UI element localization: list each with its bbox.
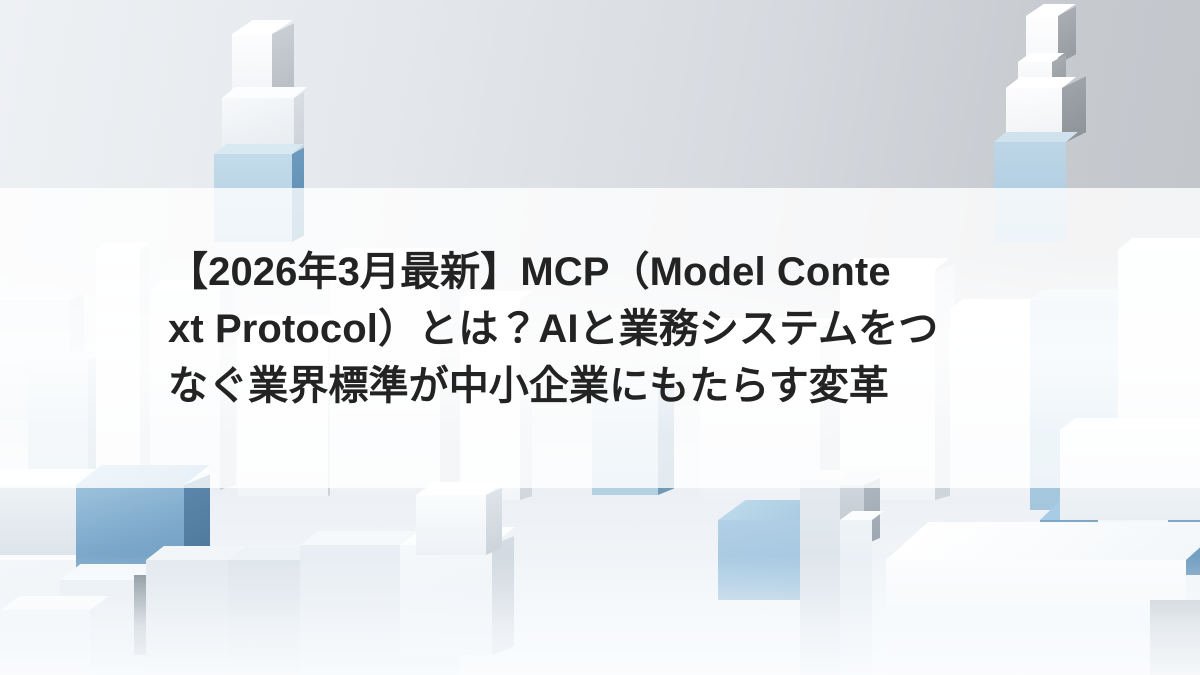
hero-banner: 【2026年3月最新】MCP（Model Conte xt Protocol）と… [0,0,1200,675]
floor-reflection [0,555,1200,675]
page-title: 【2026年3月最新】MCP（Model Conte xt Protocol）と… [168,244,1048,415]
title-line-3: なぐ業界標準が中小企業にもたらす変革 [168,358,1048,415]
fg-white-cube-mid-b [416,495,486,555]
title-line-1: 【2026年3月最新】MCP（Model Conte [168,244,1048,301]
title-line-2: xt Protocol）とは？AIと業務システムをつ [168,301,1048,358]
